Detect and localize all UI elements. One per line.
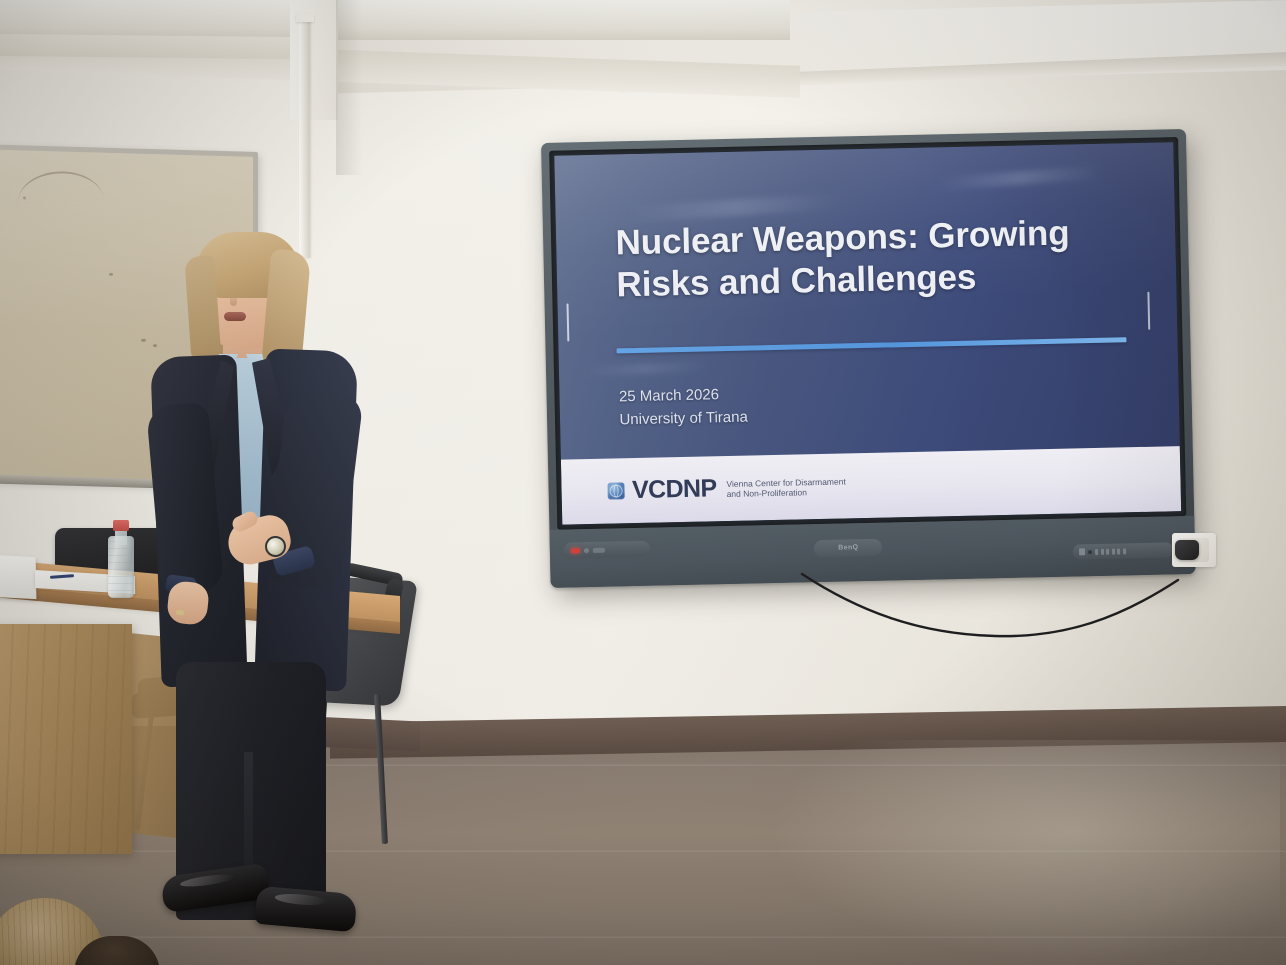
- power-led-icon: [571, 548, 580, 553]
- ceiling-beam: [0, 0, 790, 40]
- water-bottle: [108, 520, 134, 598]
- screen-marker-right-icon: [1147, 292, 1150, 330]
- cable-trunking-cap: [296, 14, 314, 22]
- table-front-panel: [0, 624, 132, 854]
- control-button-icon[interactable]: [1106, 548, 1109, 554]
- presenter-mouth: [224, 312, 246, 321]
- control-button-icon[interactable]: [1117, 548, 1120, 554]
- screen-reflection: [584, 361, 708, 377]
- bottle-neck: [115, 529, 127, 545]
- display-bezel-inner: Nuclear Weapons: Growing Risks and Chall…: [549, 137, 1186, 530]
- control-button-icon[interactable]: [1100, 548, 1103, 554]
- ceiling-beam-secondary: [0, 34, 300, 59]
- slide-date: 25 March 2026: [619, 382, 748, 408]
- slide-accent-rule: [616, 337, 1127, 353]
- lecture-room-photo: Nuclear Weapons: Growing Risks and Chall…: [0, 0, 1286, 965]
- column-shadow: [336, 0, 362, 175]
- floor-light-sheen: [760, 740, 1280, 965]
- usb-port-icon[interactable]: [1079, 548, 1085, 555]
- vcdnp-wordmark: VCDNP: [632, 476, 717, 503]
- sensor-window-icon: [593, 547, 605, 552]
- slide-footer-band: VCDNP Vienna Center for Disarmament and …: [561, 447, 1181, 525]
- headphone-jack-icon[interactable]: [1088, 550, 1092, 554]
- status-led-icon: [584, 548, 589, 553]
- control-button-icon[interactable]: [1122, 548, 1125, 554]
- display-brand-plate: BenQ: [814, 539, 882, 557]
- bottle-ribs: [108, 536, 134, 598]
- display-chassis: Nuclear Weapons: Growing Risks and Chall…: [541, 129, 1196, 588]
- display-screen[interactable]: Nuclear Weapons: Growing Risks and Chall…: [554, 142, 1181, 524]
- control-button-row[interactable]: [1095, 548, 1126, 555]
- slide-venue: University of Tirana: [619, 405, 748, 431]
- screen-reflection: [938, 165, 1099, 190]
- vcdnp-logo: VCDNP Vienna Center for Disarmament and …: [608, 474, 846, 504]
- whiteboard-spot: [141, 339, 146, 342]
- globe-icon: [608, 482, 625, 499]
- name-card: [0, 555, 36, 599]
- shoe-highlight: [180, 872, 236, 889]
- bottle-cap: [113, 520, 129, 531]
- cable-trunking: [299, 18, 310, 258]
- screen-marker-left-icon: [566, 303, 569, 341]
- presenter-shoe-right: [255, 886, 358, 933]
- display-port-panel[interactable]: [1073, 542, 1173, 559]
- table-wood-grain: [0, 624, 132, 854]
- control-button-icon[interactable]: [1111, 548, 1114, 554]
- power-plug[interactable]: [1175, 540, 1199, 560]
- slide-title: Nuclear Weapons: Growing Risks and Chall…: [615, 212, 1112, 305]
- display-indicator-panel: [564, 541, 650, 559]
- display-brand-label: BenQ: [838, 544, 858, 551]
- vcdnp-tagline: Vienna Center for Disarmament and Non-Pr…: [726, 476, 846, 500]
- presenter: [148, 232, 410, 932]
- interactive-flat-panel-display[interactable]: Nuclear Weapons: Growing Risks and Chall…: [541, 129, 1196, 588]
- presentation-slide: Nuclear Weapons: Growing Risks and Chall…: [554, 142, 1181, 524]
- shoe-highlight: [274, 893, 327, 907]
- control-button-icon[interactable]: [1095, 548, 1098, 554]
- slide-subtitle-block: 25 March 2026 University of Tirana: [619, 382, 748, 431]
- bottle-body: [108, 536, 134, 598]
